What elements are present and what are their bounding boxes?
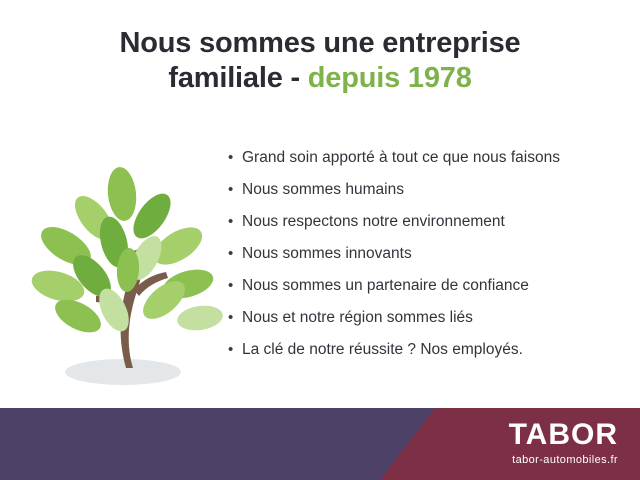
tree-leaves-icon xyxy=(28,166,224,340)
title-line-1: Nous sommes une entreprise xyxy=(0,26,640,61)
bullet-dot-icon: • xyxy=(228,244,242,264)
list-item-label: Nous sommes un partenaire de confiance xyxy=(242,276,529,296)
title-line-2-main: familiale - xyxy=(168,62,307,94)
bullet-list: • Grand soin apporté à tout ce que nous … xyxy=(228,148,628,372)
list-item-label: Nous respectons notre environnement xyxy=(242,212,505,232)
list-item: • Nous respectons notre environnement xyxy=(228,212,628,232)
list-item-label: La clé de notre réussite ? Nos employés. xyxy=(242,340,523,360)
brand-logo: TABOR xyxy=(509,420,618,450)
list-item: • Nous et notre région sommes liés xyxy=(228,308,628,328)
bullet-dot-icon: • xyxy=(228,276,242,296)
slide-root: Nous sommes une entreprise familiale - d… xyxy=(0,0,640,480)
list-item-label: Grand soin apporté à tout ce que nous fa… xyxy=(242,148,560,168)
title-line-2: familiale - depuis 1978 xyxy=(0,61,640,96)
list-item-label: Nous sommes humains xyxy=(242,180,404,200)
bullet-dot-icon: • xyxy=(228,148,242,168)
list-item-label: Nous et notre région sommes liés xyxy=(242,308,473,328)
list-item: • Nous sommes innovants xyxy=(228,244,628,264)
tree-illustration xyxy=(18,150,228,395)
list-item-label: Nous sommes innovants xyxy=(242,244,412,264)
brand-name: TABOR xyxy=(509,420,618,450)
list-item: • La clé de notre réussite ? Nos employé… xyxy=(228,340,628,360)
list-item: • Nous sommes humains xyxy=(228,180,628,200)
list-item: • Nous sommes un partenaire de confiance xyxy=(228,276,628,296)
bullet-dot-icon: • xyxy=(228,180,242,200)
bullet-dot-icon: • xyxy=(228,212,242,232)
page-title: Nous sommes une entreprise familiale - d… xyxy=(0,26,640,97)
tree-shadow-icon xyxy=(65,359,181,385)
title-accent: depuis 1978 xyxy=(308,62,472,94)
bullet-dot-icon: • xyxy=(228,340,242,360)
list-item: • Grand soin apporté à tout ce que nous … xyxy=(228,148,628,168)
footer-bar: TABOR tabor-automobiles.fr xyxy=(0,408,640,480)
brand-website: tabor-automobiles.fr xyxy=(512,454,618,466)
bullet-dot-icon: • xyxy=(228,308,242,328)
